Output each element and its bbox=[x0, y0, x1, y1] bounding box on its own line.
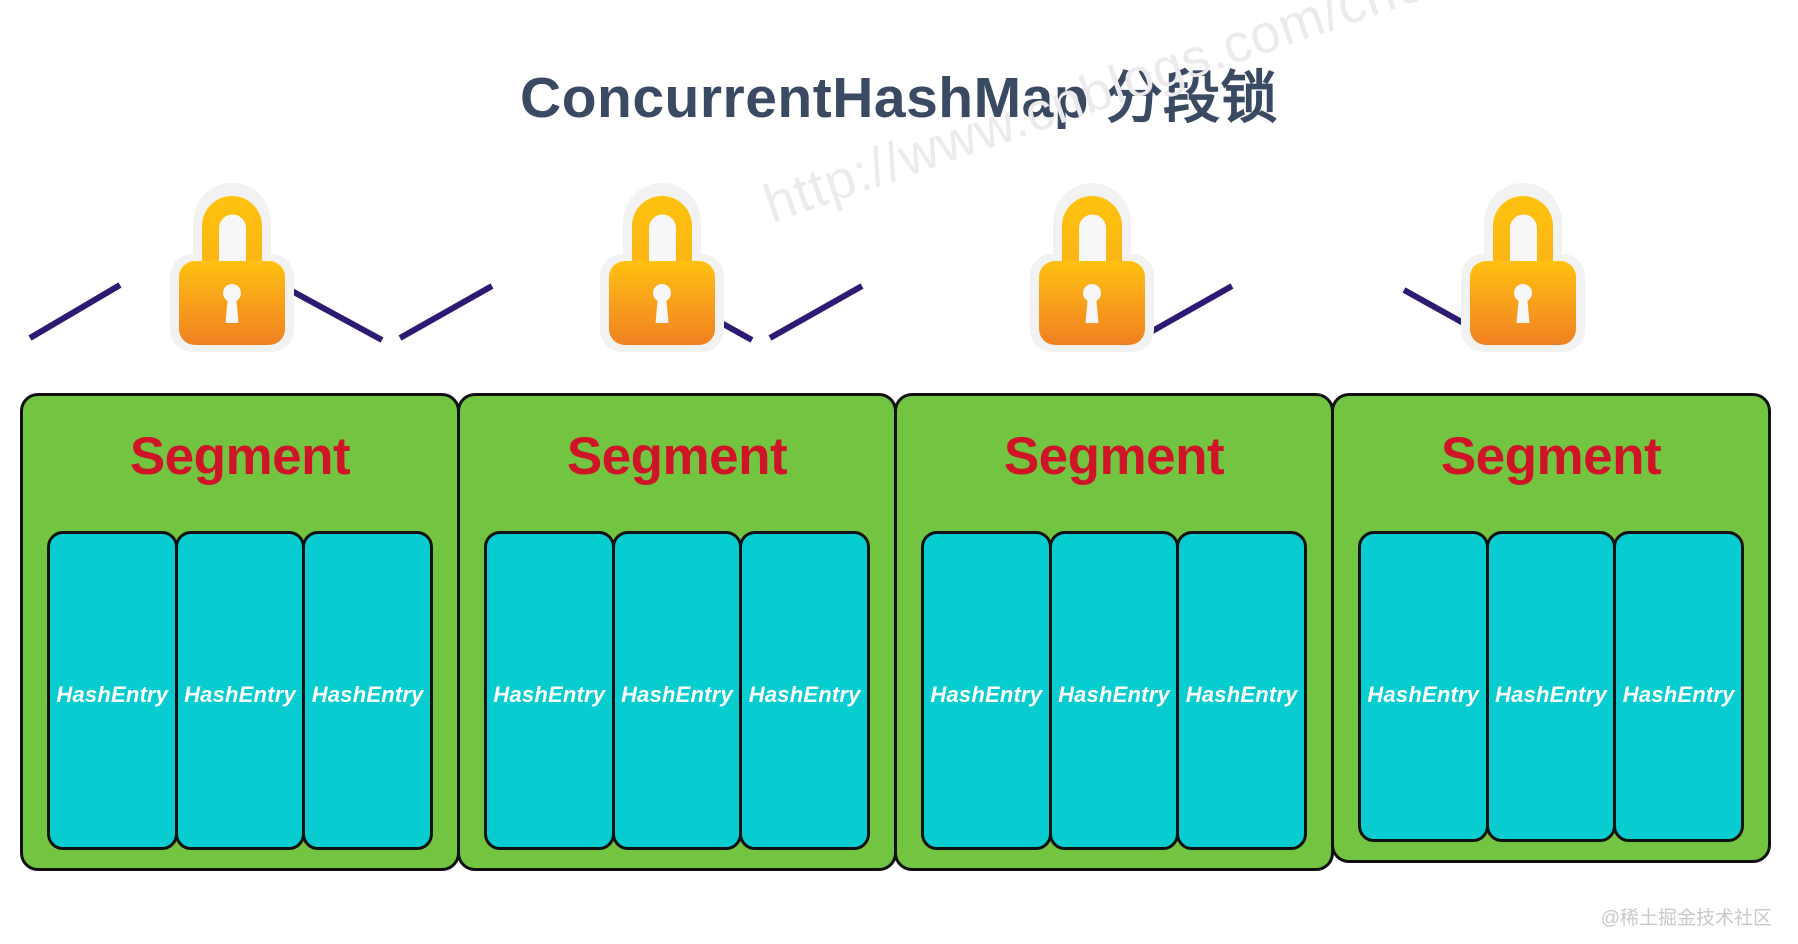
hashentry-label: HashEntry bbox=[184, 682, 296, 708]
segment-box: SegmentHashEntryHashEntryHashEntry bbox=[457, 393, 897, 871]
segment-label: Segment bbox=[1441, 430, 1661, 483]
segment-label: Segment bbox=[1004, 430, 1224, 483]
hashentry-label: HashEntry bbox=[1186, 682, 1298, 708]
padlock-icon bbox=[1447, 168, 1599, 358]
hashentry-group: HashEntryHashEntryHashEntry bbox=[47, 531, 433, 850]
hashentry-label: HashEntry bbox=[1623, 682, 1735, 708]
footer-credit: @稀土掘金技术社区 bbox=[1601, 903, 1772, 930]
hashentry-label: HashEntry bbox=[56, 682, 168, 708]
segment-row: SegmentHashEntryHashEntryHashEntrySegmen… bbox=[20, 393, 1778, 878]
page-title: ConcurrentHashMap 分段锁 bbox=[0, 52, 1798, 134]
connector-line-1 bbox=[30, 285, 120, 338]
segment-box: SegmentHashEntryHashEntryHashEntry bbox=[20, 393, 460, 871]
hashentry-box: HashEntry bbox=[1358, 531, 1489, 842]
hashentry-label: HashEntry bbox=[749, 682, 861, 708]
hashentry-box: HashEntry bbox=[175, 531, 306, 850]
hashentry-group: HashEntryHashEntryHashEntry bbox=[921, 531, 1307, 850]
padlock-icon bbox=[1016, 168, 1168, 358]
hashentry-group: HashEntryHashEntryHashEntry bbox=[484, 531, 870, 850]
hashentry-label: HashEntry bbox=[1367, 682, 1479, 708]
hashentry-label: HashEntry bbox=[1058, 682, 1170, 708]
padlock-icon bbox=[586, 168, 738, 358]
segment-label: Segment bbox=[567, 430, 787, 483]
hashentry-box: HashEntry bbox=[302, 531, 433, 850]
segment-box: SegmentHashEntryHashEntryHashEntry bbox=[894, 393, 1334, 871]
hashentry-label: HashEntry bbox=[312, 682, 424, 708]
hashentry-box: HashEntry bbox=[1049, 531, 1180, 850]
hashentry-box: HashEntry bbox=[47, 531, 178, 850]
hashentry-box: HashEntry bbox=[1486, 531, 1617, 842]
segment-box: SegmentHashEntryHashEntryHashEntry bbox=[1331, 393, 1771, 863]
connector-line-3 bbox=[400, 286, 492, 338]
hashentry-label: HashEntry bbox=[1495, 682, 1607, 708]
segment-label: Segment bbox=[130, 430, 350, 483]
hashentry-box: HashEntry bbox=[1613, 531, 1744, 842]
hashentry-box: HashEntry bbox=[739, 531, 870, 850]
connector-line-5 bbox=[770, 286, 862, 338]
hashentry-box: HashEntry bbox=[921, 531, 1052, 850]
hashentry-label: HashEntry bbox=[930, 682, 1042, 708]
padlock-icon bbox=[156, 168, 308, 358]
hashentry-box: HashEntry bbox=[612, 531, 743, 850]
hashentry-label: HashEntry bbox=[621, 682, 733, 708]
hashentry-box: HashEntry bbox=[484, 531, 615, 850]
diagram-canvas: ConcurrentHashMap 分段锁 http://www.cnblogs… bbox=[0, 0, 1798, 944]
hashentry-group: HashEntryHashEntryHashEntry bbox=[1358, 531, 1744, 842]
hashentry-box: HashEntry bbox=[1176, 531, 1307, 850]
hashentry-label: HashEntry bbox=[493, 682, 605, 708]
